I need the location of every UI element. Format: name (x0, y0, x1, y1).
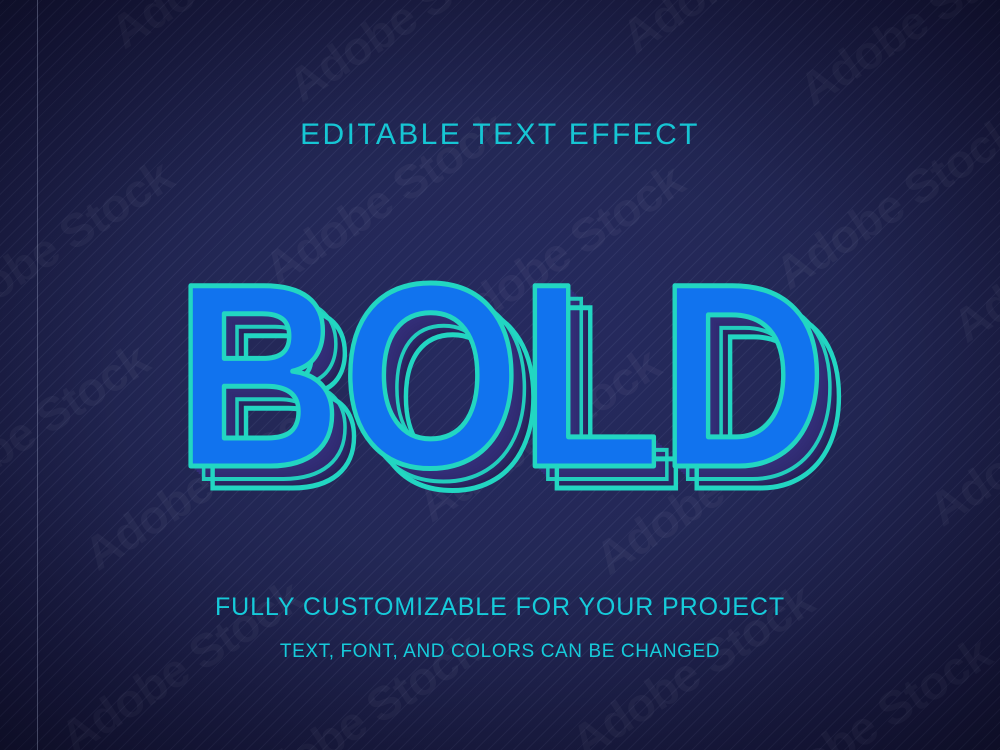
top-tagline: EDITABLE TEXT EFFECT (0, 118, 1000, 152)
credit-bar: Adobe Stock | #143691O594 (0, 0, 38, 750)
main-word-svg: BOLD (0, 214, 1000, 514)
poster-canvas: Adobe StockAdobe StockAdobe StockAdobe S… (0, 0, 1000, 750)
credit-text: Adobe Stock | #143691O594 (0, 736, 4, 750)
middle-tagline: FULLY CUSTOMIZABLE FOR YOUR PROJECT (0, 593, 1000, 622)
credit-divider (37, 0, 38, 750)
sub-tagline: TEXT, FONT, AND COLORS CAN BE CHANGED (0, 641, 1000, 663)
main-word-group: BOLD (0, 214, 1000, 514)
word-front-face (175, 230, 825, 514)
